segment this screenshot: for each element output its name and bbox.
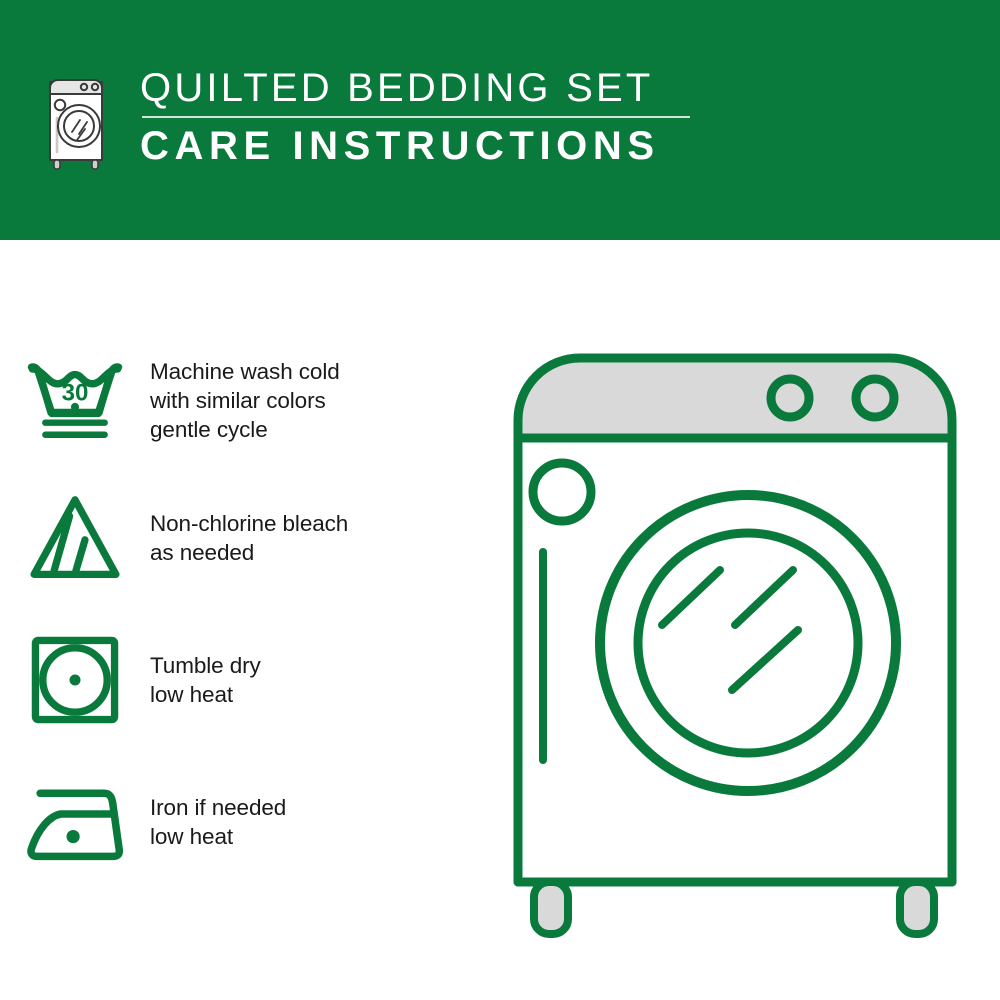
care-text-line: Non-chlorine bleach <box>150 509 348 538</box>
machine-body <box>518 358 952 940</box>
header-text-block: QUILTED BEDDING SET CARE INSTRUCTIONS <box>140 66 700 170</box>
care-text-line: low heat <box>150 822 286 851</box>
wash-tub-30-gentle-icon: 30 <box>0 341 150 459</box>
leg-left <box>534 882 568 934</box>
care-row-wash: 30 Machine wash cold with similar colors… <box>0 340 480 460</box>
iron-low-heat-icon <box>0 763 150 881</box>
care-text-line: Machine wash cold <box>150 357 340 386</box>
care-row-bleach: Non-chlorine bleach as needed <box>0 478 480 598</box>
care-row-iron: Iron if needed low heat <box>0 762 480 882</box>
care-text-bleach: Non-chlorine bleach as needed <box>150 509 348 567</box>
care-text-tumble-dry: Tumble dry low heat <box>150 651 261 709</box>
care-text-iron: Iron if needed low heat <box>150 793 286 851</box>
washing-machine-icon <box>46 68 106 172</box>
care-text-line: with similar colors <box>150 386 340 415</box>
care-text-line: Tumble dry <box>150 651 261 680</box>
header-banner: QUILTED BEDDING SET CARE INSTRUCTIONS <box>0 0 1000 240</box>
wash-temperature-label: 30 <box>62 379 89 406</box>
control-panel <box>518 358 952 438</box>
tumble-dry-low-icon <box>0 621 150 739</box>
care-text-wash: Machine wash cold with similar colors ge… <box>150 357 340 444</box>
care-text-line: as needed <box>150 538 348 567</box>
triangle-non-chlorine-bleach-icon <box>0 479 150 597</box>
care-instructions-infographic: QUILTED BEDDING SET CARE INSTRUCTIONS 30 <box>0 0 1000 1000</box>
page-subtitle: CARE INSTRUCTIONS <box>140 122 700 170</box>
title-divider <box>142 116 690 118</box>
care-text-line: Iron if needed <box>150 793 286 822</box>
care-text-line: low heat <box>150 680 261 709</box>
page-title: QUILTED BEDDING SET <box>140 66 700 110</box>
leg-right <box>900 882 934 934</box>
care-row-tumble-dry: Tumble dry low heat <box>0 620 480 740</box>
front-load-washing-machine-illustration <box>490 330 980 940</box>
care-text-line: gentle cycle <box>150 415 340 444</box>
